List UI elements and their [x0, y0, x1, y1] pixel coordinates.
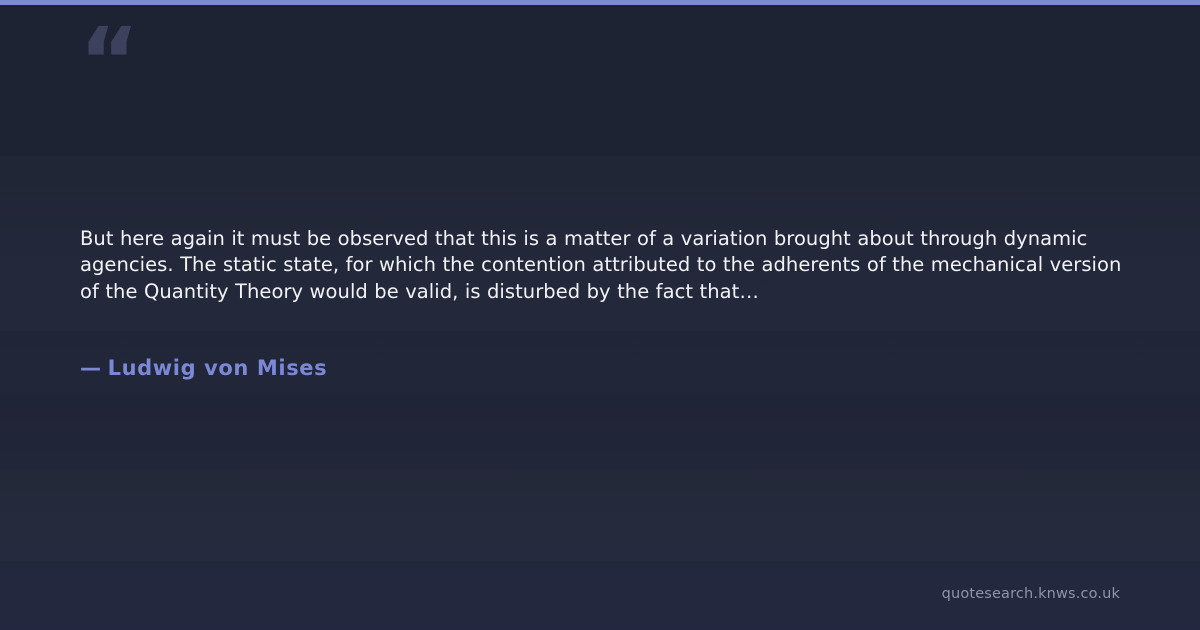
quote-attribution: —Ludwig von Mises — [80, 356, 327, 380]
attribution-dash: — — [80, 356, 102, 380]
quote-text: But here again it must be observed that … — [80, 226, 1125, 305]
author-name: Ludwig von Mises — [108, 356, 328, 380]
quote-card: “ But here again it must be observed tha… — [0, 0, 1200, 630]
background-banding-overlay — [0, 0, 1200, 630]
site-url-footer: quotesearch.knws.co.uk — [942, 586, 1120, 602]
quote-content: But here again it must be observed that … — [80, 226, 1125, 305]
top-accent-bar — [0, 0, 1200, 5]
opening-double-quote-icon: “ — [79, 16, 137, 108]
